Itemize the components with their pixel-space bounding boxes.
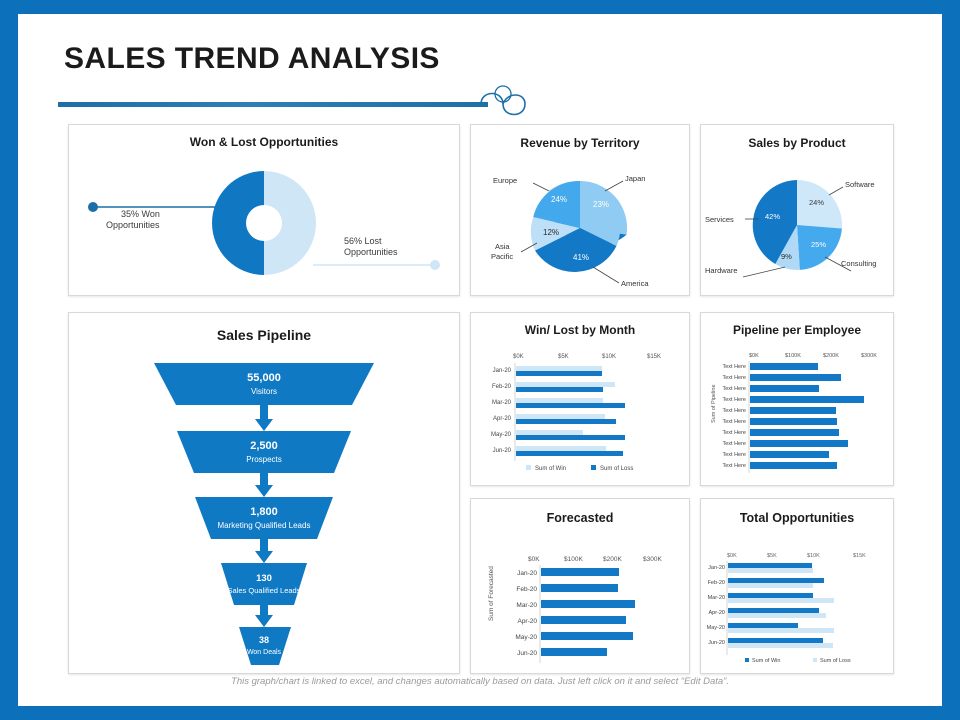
bar-forecast-2 xyxy=(541,600,635,608)
bar-total-win-0 xyxy=(728,563,812,568)
bar-loss-2 xyxy=(516,403,625,408)
total-legend-label-win: Sum of Win xyxy=(752,658,780,664)
territory-label-asia-1: Asia xyxy=(495,242,510,251)
bar-win-5 xyxy=(516,446,606,451)
win-month-cat-2: Mar-20 xyxy=(492,400,512,406)
total-bars xyxy=(728,563,834,648)
bar-total-loss-4 xyxy=(728,628,834,633)
employee-cat-4: Text Here xyxy=(722,408,746,414)
panel-total-opportunities: Total Opportunities $0K $5K $10K $15K Ja… xyxy=(700,498,894,674)
lost-label-line2: Opportunities xyxy=(344,247,398,257)
funnel-arrow-4 xyxy=(255,605,273,627)
bar-total-loss-2 xyxy=(728,598,834,603)
employee-title: Pipeline per Employee xyxy=(701,323,893,337)
total-cat-2: Mar-20 xyxy=(708,595,725,601)
employee-bar-chart: $0K $100K $200K $300K Sum of Pipeline Te… xyxy=(701,313,893,485)
total-xtick-2: $10K xyxy=(807,553,820,559)
panel-pipeline: Sales Pipeline 55,000 Visitors 2,500 Pro… xyxy=(68,312,460,674)
funnel-arrow-3 xyxy=(255,539,273,563)
employee-xtick-1: $100K xyxy=(785,353,801,359)
win-month-cat-0: Jan-20 xyxy=(493,368,512,374)
employee-ylabel: Sum of Pipeline xyxy=(711,384,717,423)
employee-xtick-3: $300K xyxy=(861,353,877,359)
territory-value-europe: 24% xyxy=(551,195,567,204)
footer-note: This graph/chart is linked to excel, and… xyxy=(18,676,942,687)
forecast-cat-1: Feb-20 xyxy=(516,586,537,593)
total-legend-swatch-win xyxy=(745,658,749,662)
bar-win-0 xyxy=(516,366,602,371)
title-rule xyxy=(58,102,488,107)
funnel-value-2: 2,500 xyxy=(250,440,278,452)
territory-value-japan: 23% xyxy=(593,200,609,209)
win-month-cat-3: Apr-20 xyxy=(493,416,512,422)
territory-label-japan: Japan xyxy=(625,174,645,183)
forecast-xtick-0: $0K xyxy=(528,556,540,563)
funnel-arrow-1 xyxy=(255,405,273,431)
win-month-legend-label-loss: Sum of Loss xyxy=(600,466,633,472)
employee-xtick-0: $0K xyxy=(749,353,759,359)
total-cat-1: Feb-20 xyxy=(708,580,725,586)
panel-territory: Revenue by Territory 23% xyxy=(470,124,690,296)
employee-category-labels: Text Here Text Here Text Here Text Here … xyxy=(722,364,746,469)
funnel-value-1: 55,000 xyxy=(247,372,281,384)
pipeline-funnel-chart: 55,000 Visitors 2,500 Prospects 1,800 Ma… xyxy=(69,313,459,673)
total-legend-label-loss: Sum of Loss xyxy=(820,658,851,664)
lost-callout-dot xyxy=(430,260,440,270)
bar-employee-5 xyxy=(750,418,837,425)
bar-employee-2 xyxy=(750,385,819,392)
product-value-services: 42% xyxy=(765,212,780,221)
product-label-consulting: Consulting xyxy=(841,259,876,268)
total-cat-3: Apr-20 xyxy=(708,610,725,616)
bar-total-loss-3 xyxy=(728,613,826,618)
win-month-bars xyxy=(516,366,625,456)
employee-cat-0: Text Here xyxy=(722,364,746,370)
win-month-xtick-3: $15K xyxy=(647,354,661,360)
bar-loss-5 xyxy=(516,451,623,456)
bar-total-win-3 xyxy=(728,608,819,613)
bar-employee-4 xyxy=(750,407,836,414)
bar-win-2 xyxy=(516,398,603,403)
product-label-services: Services xyxy=(705,215,734,224)
territory-value-america: 41% xyxy=(573,253,589,262)
product-title: Sales by Product xyxy=(701,136,893,150)
win-month-xtick-1: $5K xyxy=(558,354,569,360)
funnel-stage-4 xyxy=(221,563,307,605)
funnel-label-1: Visitors xyxy=(251,387,277,396)
product-pie-chart: 24% 25% 9% 42% Software Consulting Hardw… xyxy=(701,125,893,295)
panel-pipeline-employee: Pipeline per Employee $0K $100K $200K $3… xyxy=(700,312,894,486)
funnel-stage-2 xyxy=(177,431,351,473)
total-xtick-3: $15K xyxy=(853,553,866,559)
bar-forecast-4 xyxy=(541,632,633,640)
bar-total-loss-5 xyxy=(728,643,833,648)
bar-forecast-0 xyxy=(541,568,619,576)
territory-label-america: America xyxy=(621,279,649,288)
total-cat-5: Jun-20 xyxy=(708,640,725,646)
total-xtick-1: $5K xyxy=(767,553,777,559)
funnel-stage-3 xyxy=(195,497,333,539)
swirl-decoration xyxy=(473,80,535,128)
donut-hole xyxy=(246,205,282,241)
win-month-legend-swatch-loss xyxy=(591,465,596,470)
funnel-value-3: 1,800 xyxy=(250,506,278,518)
pipeline-title: Sales Pipeline xyxy=(69,327,459,343)
bar-employee-8 xyxy=(750,451,829,458)
bar-employee-0 xyxy=(750,363,818,370)
bar-forecast-1 xyxy=(541,584,618,592)
employee-cat-6: Text Here xyxy=(722,430,746,436)
win-month-cat-4: May-20 xyxy=(491,432,512,438)
forecast-bar-chart: $0K $100K $200K $300K Sum of Forecasted … xyxy=(471,499,689,673)
product-value-software: 24% xyxy=(809,198,824,207)
forecast-xtick-1: $100K xyxy=(564,556,583,563)
total-cat-0: Jan-20 xyxy=(708,565,725,571)
won-lost-title: Won & Lost Opportunities xyxy=(69,135,459,149)
bar-loss-0 xyxy=(516,371,602,376)
forecast-xtick-3: $300K xyxy=(643,556,662,563)
territory-pie-chart: 23% 41% 12% 24% Japan America Asia Pacif… xyxy=(471,125,689,295)
employee-cat-8: Text Here xyxy=(722,452,746,458)
bar-total-loss-1 xyxy=(728,583,813,588)
panel-win-lost-month: Win/ Lost by Month $0K $5K $10K $15K Jan… xyxy=(470,312,690,486)
bar-employee-3 xyxy=(750,396,864,403)
bar-employee-7 xyxy=(750,440,848,447)
forecast-cat-3: Apr-20 xyxy=(517,618,537,625)
total-legend-swatch-loss xyxy=(813,658,817,662)
win-month-title: Win/ Lost by Month xyxy=(471,323,689,337)
win-month-bar-chart: $0K $5K $10K $15K Jan-20 Feb-20 Mar-20 A… xyxy=(471,313,689,485)
forecast-cat-4: May-20 xyxy=(515,634,537,641)
bar-win-4 xyxy=(516,430,583,435)
employee-bars xyxy=(750,363,864,469)
bar-win-1 xyxy=(516,382,615,387)
lost-label-line1: 56% Lost xyxy=(344,236,382,246)
forecast-bars xyxy=(541,568,635,656)
employee-cat-7: Text Here xyxy=(722,441,746,447)
leader-software xyxy=(829,187,843,195)
win-month-cat-5: Jun-20 xyxy=(493,448,512,454)
win-month-xtick-2: $10K xyxy=(602,354,616,360)
bar-loss-4 xyxy=(516,435,625,440)
slide-canvas: SALES TREND ANALYSIS Won & Lost Opportun… xyxy=(18,14,942,706)
won-label-line1: 35% Won xyxy=(121,209,160,219)
funnel-label-2: Prospects xyxy=(246,455,282,464)
bar-total-loss-0 xyxy=(728,568,813,573)
panel-forecasted: Forecasted $0K $100K $200K $300K Sum of … xyxy=(470,498,690,674)
panel-won-lost: Won & Lost Opportunities 35% Won Opportu… xyxy=(68,124,460,296)
bar-loss-1 xyxy=(516,387,603,392)
donut-ring xyxy=(212,171,316,275)
funnel-label-4: Sales Qualified Leads xyxy=(228,586,301,595)
bar-loss-3 xyxy=(516,419,616,424)
leader-hardware xyxy=(743,267,785,277)
panel-product: Sales by Product 24% 25% 9% 42% Software… xyxy=(700,124,894,296)
total-cat-4: May-20 xyxy=(707,625,725,631)
funnel-arrow-2 xyxy=(255,473,273,497)
funnel-label-3: Marketing Qualified Leads xyxy=(218,521,311,530)
funnel-value-5: 38 xyxy=(259,635,269,645)
bar-employee-9 xyxy=(750,462,837,469)
bar-forecast-3 xyxy=(541,616,626,624)
win-month-legend-swatch-win xyxy=(526,465,531,470)
territory-title: Revenue by Territory xyxy=(471,136,689,150)
bar-total-win-1 xyxy=(728,578,824,583)
forecast-cat-0: Jan-20 xyxy=(517,570,537,577)
forecast-category-labels: Jan-20 Feb-20 Mar-20 Apr-20 May-20 Jun-2… xyxy=(515,570,537,657)
product-label-hardware: Hardware xyxy=(705,266,738,275)
leader-america xyxy=(593,267,619,283)
won-lost-donut-chart: 35% Won Opportunities 56% Lost Opportuni… xyxy=(69,125,459,295)
win-month-xtick-0: $0K xyxy=(513,354,524,360)
leader-europe xyxy=(533,183,549,191)
funnel-stage-5 xyxy=(239,627,291,665)
page-title: SALES TREND ANALYSIS xyxy=(64,42,440,76)
employee-cat-1: Text Here xyxy=(722,375,746,381)
territory-value-asia: 12% xyxy=(543,228,559,237)
employee-cat-5: Text Here xyxy=(722,419,746,425)
win-month-legend-label-win: Sum of Win xyxy=(535,466,566,472)
funnel-label-5: Won Deals xyxy=(247,649,282,656)
funnel-stage-1 xyxy=(154,363,374,405)
employee-xtick-2: $200K xyxy=(823,353,839,359)
bar-win-3 xyxy=(516,414,605,419)
product-label-software: Software xyxy=(845,180,875,189)
product-value-hardware: 9% xyxy=(781,252,792,261)
bar-total-win-4 xyxy=(728,623,798,628)
employee-cat-3: Text Here xyxy=(722,397,746,403)
win-month-cat-1: Feb-20 xyxy=(492,384,512,390)
total-title: Total Opportunities xyxy=(701,511,893,525)
bar-employee-1 xyxy=(750,374,841,381)
funnel-value-4: 130 xyxy=(256,573,272,584)
bar-forecast-5 xyxy=(541,648,607,656)
forecast-cat-2: Mar-20 xyxy=(516,602,537,609)
total-category-labels: Jan-20 Feb-20 Mar-20 Apr-20 May-20 Jun-2… xyxy=(707,565,725,646)
employee-cat-2: Text Here xyxy=(722,386,746,392)
territory-label-asia-2: Pacific xyxy=(491,252,513,261)
forecast-ylabel: Sum of Forecasted xyxy=(488,566,495,621)
forecast-cat-5: Jun-20 xyxy=(517,650,537,657)
territory-label-europe: Europe xyxy=(493,176,517,185)
total-bar-chart: $0K $5K $10K $15K Jan-20 Feb-20 Mar-20 A… xyxy=(701,499,893,673)
employee-cat-9: Text Here xyxy=(722,463,746,469)
leader-japan xyxy=(605,181,623,191)
bar-total-win-2 xyxy=(728,593,813,598)
forecast-xtick-2: $200K xyxy=(603,556,622,563)
total-xtick-0: $0K xyxy=(727,553,737,559)
won-callout-dot xyxy=(88,202,98,212)
product-slices xyxy=(753,180,842,270)
product-value-consulting: 25% xyxy=(811,240,826,249)
bar-total-win-5 xyxy=(728,638,823,643)
bar-employee-6 xyxy=(750,429,839,436)
won-label-line2: Opportunities xyxy=(106,220,160,230)
forecast-title: Forecasted xyxy=(471,511,689,525)
